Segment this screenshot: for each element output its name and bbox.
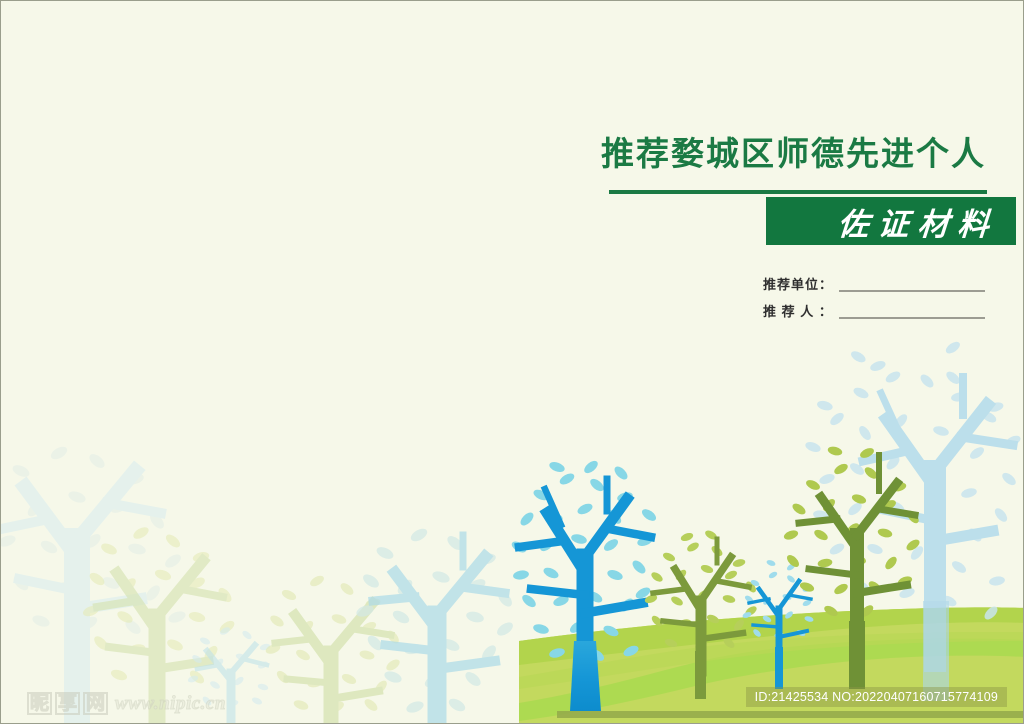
page-title: 推荐婺城区师德先进个人	[601, 133, 1021, 174]
title-block: 推荐婺城区师德先进个人 佐证材料	[601, 133, 1021, 174]
cover-page: 推荐婺城区师德先进个人 佐证材料 推荐单位： 推 荐 人 ： 昵 享 网 www…	[0, 0, 1024, 724]
subtitle-band: 佐证材料	[766, 197, 1016, 245]
scene-illustration	[1, 1, 1024, 724]
tree-trunk	[695, 651, 706, 699]
recommender-input[interactable]	[839, 317, 985, 319]
tree-trunk	[849, 621, 865, 689]
tree-trunk	[570, 641, 601, 711]
subtitle-text: 佐证材料	[827, 199, 999, 244]
title-divider	[609, 190, 987, 194]
illustration-artboard	[1, 1, 1023, 723]
form-fields: 推荐单位： 推 荐 人 ：	[763, 269, 985, 323]
recommending-unit-label: 推荐单位：	[763, 274, 833, 296]
recommending-unit-input[interactable]	[839, 290, 985, 292]
tree-trunk	[923, 601, 949, 701]
form-row-unit: 推荐单位：	[763, 269, 985, 296]
recommender-label: 推 荐 人 ：	[763, 301, 833, 323]
tree-trunk	[775, 647, 783, 689]
ground-bottom-strip	[557, 711, 1024, 718]
form-row-person: 推 荐 人 ：	[763, 296, 985, 323]
